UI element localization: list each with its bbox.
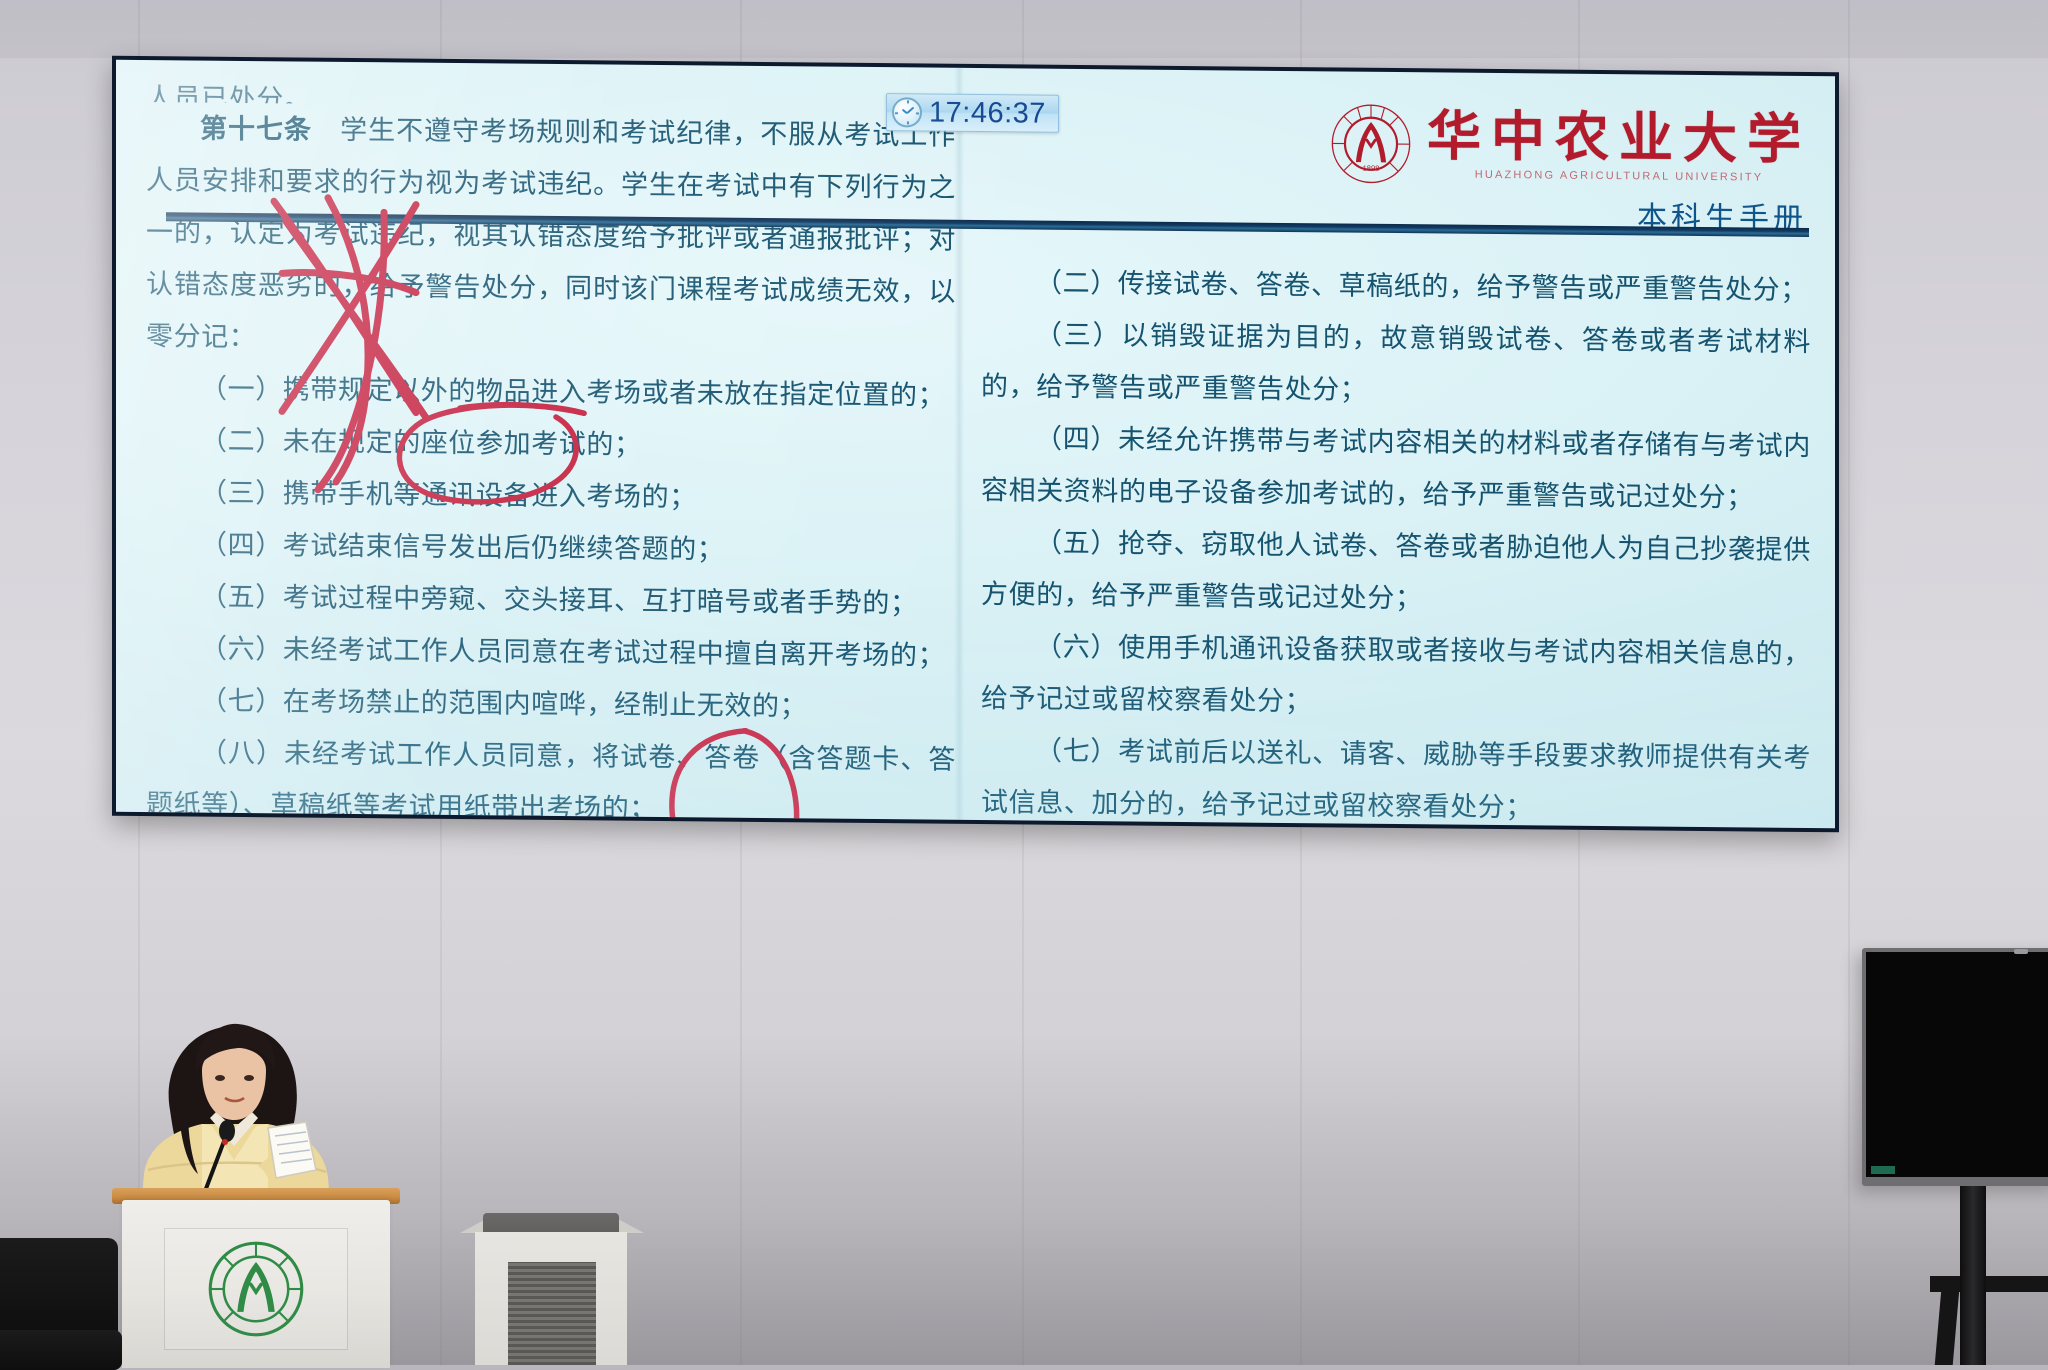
- list-item: （三）以销毁证据为目的，故意销毁试卷、答卷或者考试材料的，给予警告或严重警告处分…: [981, 308, 1811, 420]
- lecture-hall-room: 人员已处分。 第十七条 学生不遵守考场规则和考试纪律，不服从考试工作人员安排和要…: [0, 0, 2048, 1365]
- presenter-notes: [268, 1122, 316, 1178]
- list-item: （六）使用手机通讯设备获取或者接收与考试内容相关信息的，给予记过或留校察看处分；: [981, 620, 1811, 732]
- list-item: （三）携带手机等通讯设备进入考场的；: [146, 466, 956, 526]
- display-brand-badge: [1871, 1166, 1895, 1174]
- article-17-paragraph: 第十七条 学生不遵守考场规则和考试纪律，不服从考试工作人员安排和要求的行为视为考…: [146, 102, 956, 370]
- clock-time-label: 17:46:37: [929, 98, 1046, 128]
- list-item: （四）未经允许携带与考试内容相关的材料或者存储有与考试内容相关资料的电子设备参加…: [981, 412, 1811, 524]
- university-seal-icon: 1898: [1329, 101, 1413, 186]
- display-stand-column: [1960, 1186, 1986, 1365]
- wall-display[interactable]: [1862, 948, 2048, 1186]
- list-item: （六）未经考试工作人员同意在考试过程中擅自离开考场的；: [146, 622, 956, 682]
- list-item: （五）抢夺、窃取他人试卷、答卷或者胁迫他人为自己抄袭提供方便的，给予严重警告或记…: [981, 516, 1811, 628]
- document-left-column: 人员已处分。 第十七条 学生不遵守考场规则和考试纪律，不服从考试工作人员安排和要…: [146, 72, 956, 828]
- list-item: （七）在考场禁止的范围内喧哗，经制止无效的；: [146, 674, 956, 734]
- stacked-chair: [0, 1238, 118, 1340]
- document-right-column: （二）传接试卷、答卷、草稿纸的，给予警告或严重警告处分； （三）以销毁证据为目的…: [981, 256, 1811, 828]
- list-item: （一）携带规定以外的物品进入考场或者未放在指定位置的；: [146, 362, 956, 422]
- list-item: （七）考试前后以送礼、请客、威胁等手段要求教师提供有关考试信息、加分的，给予记过…: [981, 724, 1811, 828]
- clock-widget[interactable]: 17:46:37: [886, 93, 1059, 133]
- list-item: （八）未经考试工作人员同意，将试卷、答卷（含答题卡、答题纸等）、草稿纸等考试用纸…: [146, 726, 956, 828]
- list-item: （五）考试过程中旁窥、交头接耳、互打暗号或者手势的；: [146, 570, 956, 630]
- article-17-label: 第十七条: [200, 114, 312, 145]
- projection-screen-frame: 人员已处分。 第十七条 学生不遵守考场规则和考试纪律，不服从考试工作人员安排和要…: [112, 56, 1839, 833]
- university-name-en: HUAZHONG AGRICULTURAL UNIVERSITY: [1427, 168, 1811, 184]
- university-name-cn: 华中农业大学: [1427, 109, 1811, 167]
- display-camera-icon: [2014, 949, 2028, 954]
- list-item: （二）传接试卷、答卷、草稿纸的，给予警告或严重警告处分；: [981, 256, 1811, 316]
- list-item: （四）考试结束信号发出后仍继续答题的；: [146, 518, 956, 578]
- list-item: （二）未在规定的座位参加考试的；: [146, 414, 956, 474]
- projection-screen: 人员已处分。 第十七条 学生不遵守考场规则和考试纪律，不服从考试工作人员安排和要…: [116, 60, 1835, 829]
- article-17-body: 学生不遵守考场规则和考试纪律，不服从考试工作人员安排和要求的行为视为考试违纪。学…: [146, 115, 956, 352]
- seal-year-text: 1898: [1363, 164, 1380, 173]
- main-podium: [122, 1200, 390, 1368]
- clock-icon: [892, 97, 922, 127]
- stacked-chair: [0, 1330, 122, 1370]
- lectern-vent-grill: [508, 1262, 596, 1365]
- podium-university-seal-icon: [204, 1237, 308, 1341]
- podium-front-panel: [164, 1228, 348, 1350]
- ceiling-band: [0, 0, 2048, 58]
- university-logo-header: 1898 华中农业大学 HUAZHONG AGRICULTURAL UNIVER…: [1211, 100, 1811, 238]
